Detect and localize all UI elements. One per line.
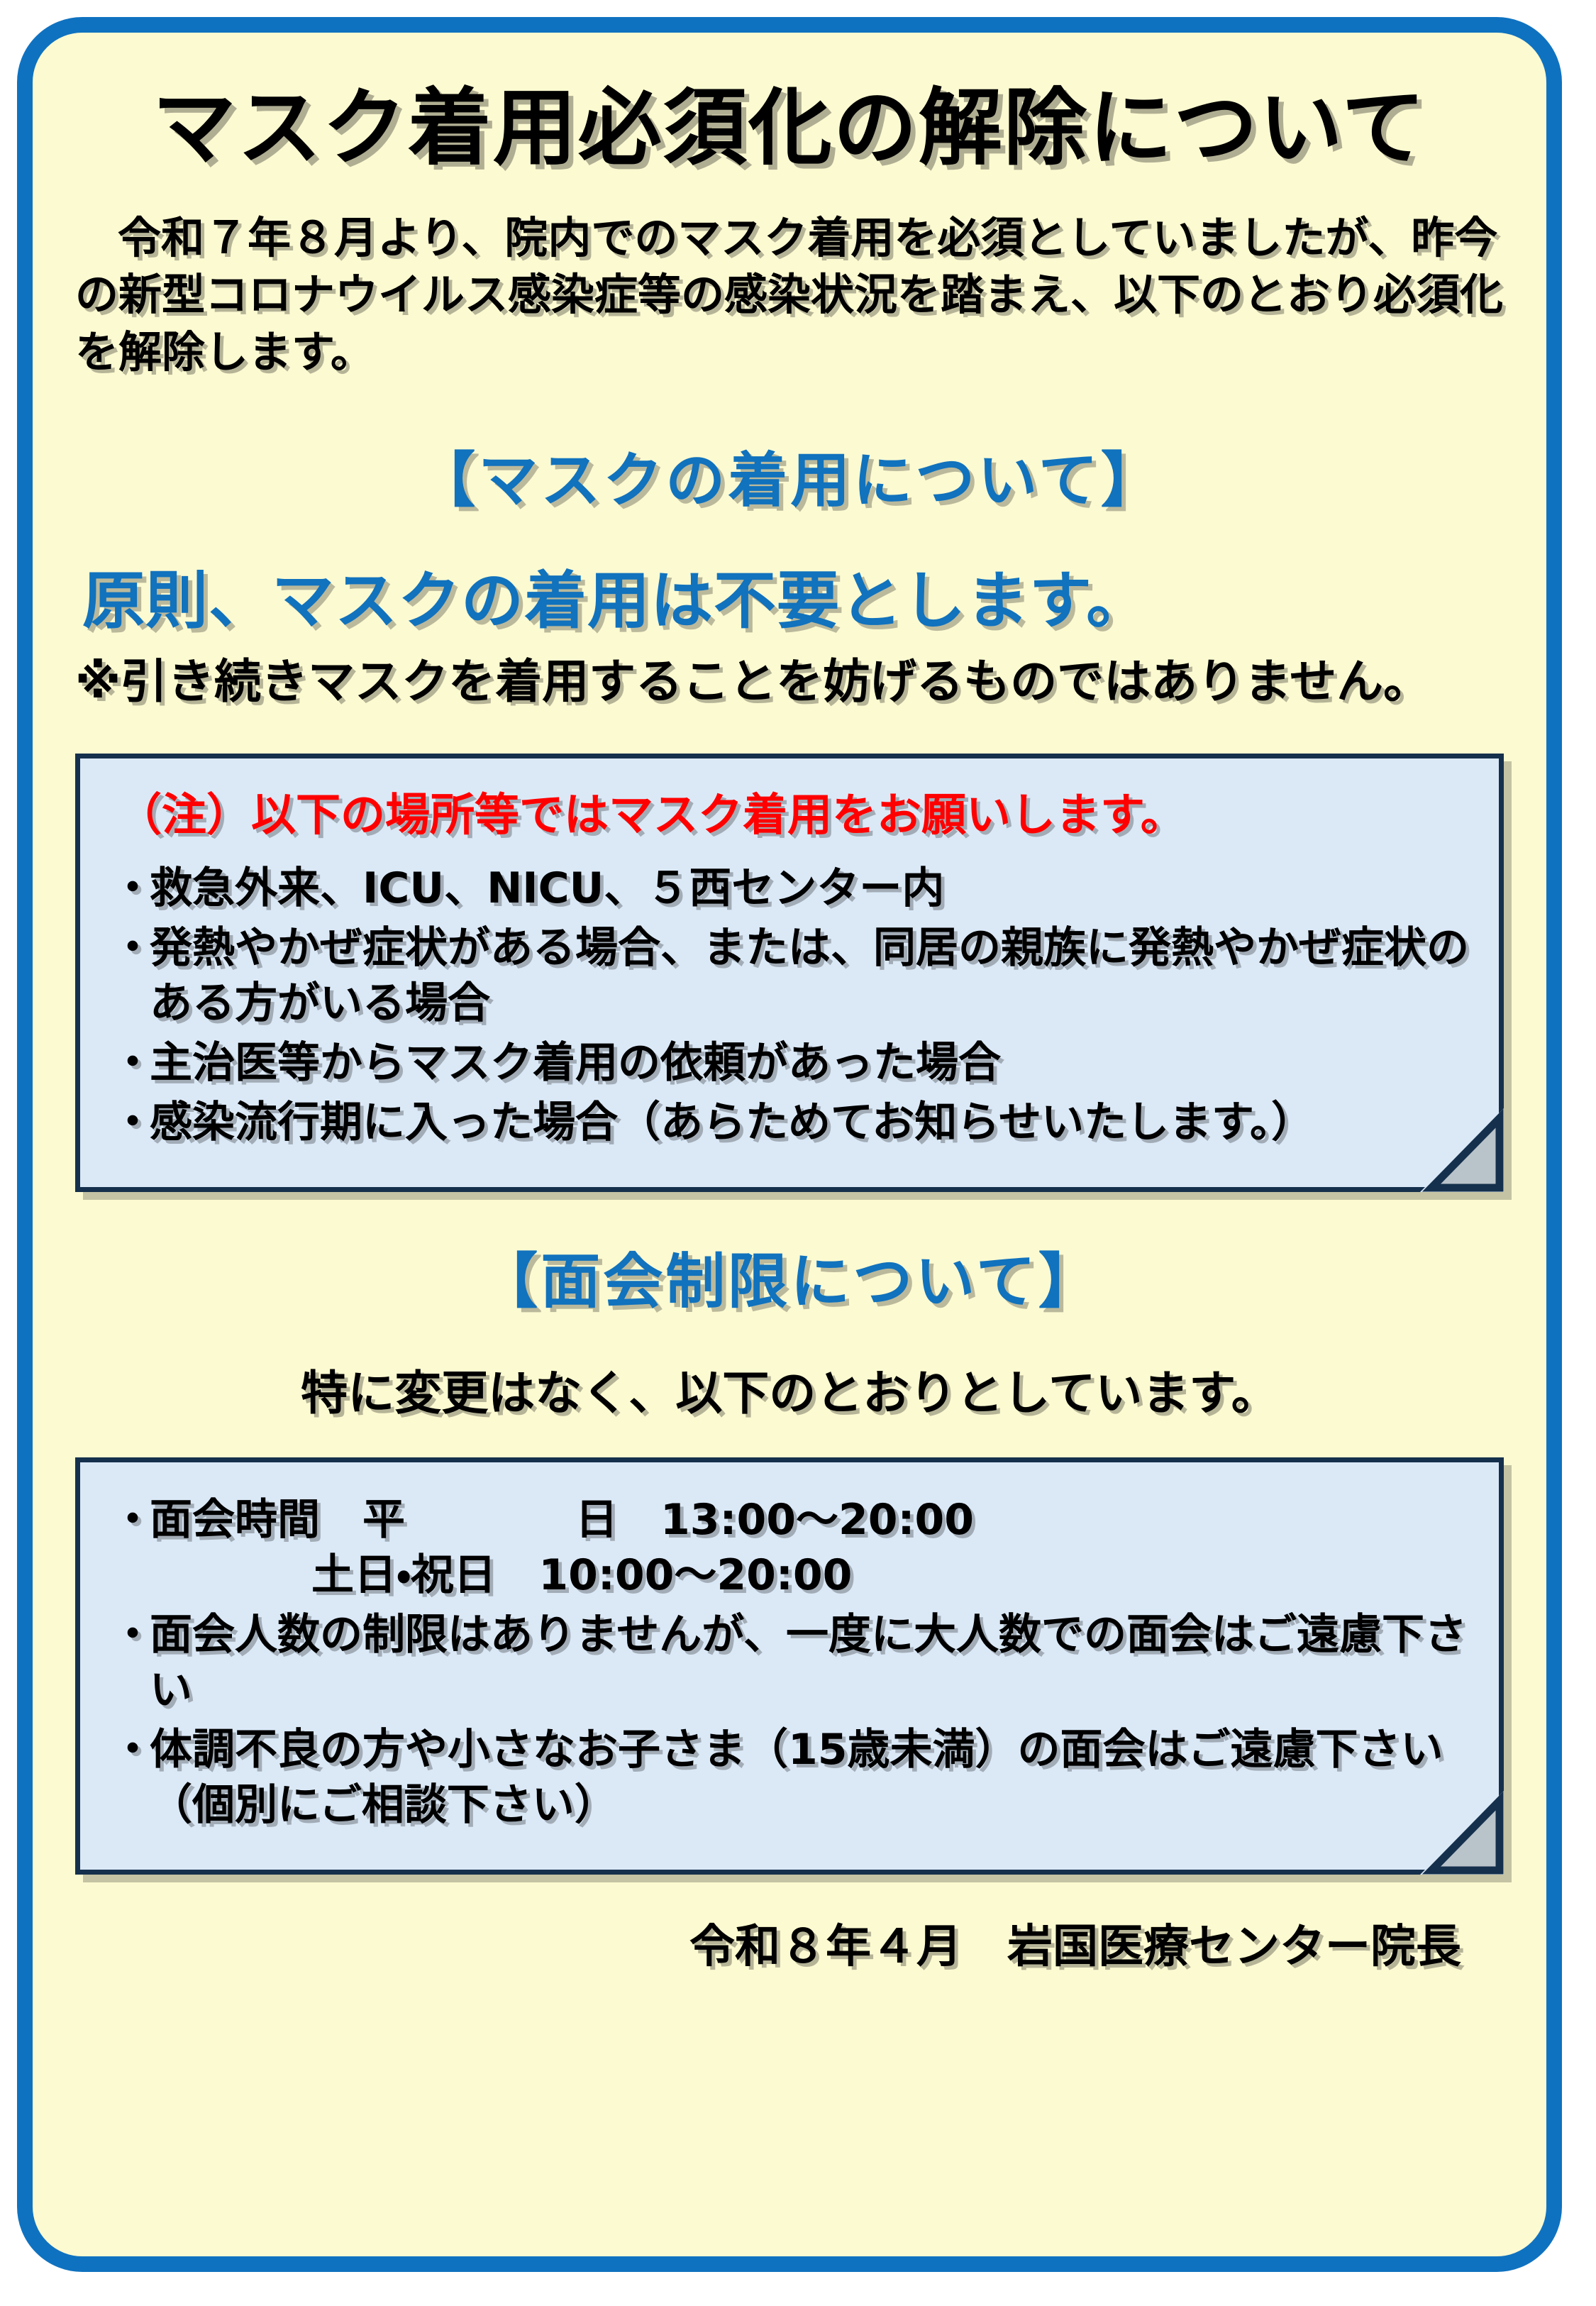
mask-policy-statement: 原則、マスクの着用は不要とします。: [82, 565, 1504, 636]
list-item: 発熱やかぜ症状がある場合、または、同居の親族に発熱やかぜ症状のある方がいる場合: [111, 920, 1470, 1031]
list-item: 主治医等からマスク着用の依頼があった場合: [111, 1035, 1470, 1091]
mask-policy-note: ※引き続きマスクを着用することを妨げるものではありません。: [75, 652, 1504, 711]
visit-hours-weekend: 土日・祝日 10:00〜20:00: [150, 1548, 1470, 1603]
page-title: マスク着用必須化の解除について: [75, 82, 1504, 175]
list-item: 面会時間 平 日 13:00〜20:00 土日・祝日 10:00〜20:00: [111, 1492, 1470, 1603]
visit-rules-list: 面会時間 平 日 13:00〜20:00 土日・祝日 10:00〜20:00 面…: [111, 1492, 1470, 1833]
list-item: 面会人数の制限はありませんが、一度に大人数での面会はご遠慮下さい: [111, 1607, 1470, 1718]
intro-paragraph: 令和７年８月より、院内でのマスク着用を必須としていましたが、昨今の新型コロナウイ…: [75, 210, 1504, 382]
visit-rules-callout: 面会時間 平 日 13:00〜20:00 土日・祝日 10:00〜20:00 面…: [75, 1457, 1504, 1875]
mask-exceptions-heading: （注）以下の場所等ではマスク着用をお願いします。: [111, 788, 1470, 842]
list-item: 感染流行期に入った場合（あらためてお知らせいたします。）: [111, 1095, 1470, 1150]
section-heading-visit: 【面会制限について】: [75, 1247, 1504, 1316]
poster-content: マスク着用必須化の解除について 令和７年８月より、院内でのマスク着用を必須として…: [33, 82, 1546, 2306]
list-item: 体調不良の方や小さなお子さま（15歳未満）の面会はご遠慮下さい（個別にご相談下さ…: [111, 1722, 1470, 1833]
poster-frame: マスク着用必須化の解除について 令和７年８月より、院内でのマスク着用を必須として…: [17, 17, 1562, 2272]
mask-exceptions-callout: （注）以下の場所等ではマスク着用をお願いします。 救急外来、ICU、NICU、５…: [75, 754, 1504, 1192]
list-item: 救急外来、ICU、NICU、５西センター内: [111, 861, 1470, 916]
footer-signature: 令和８年４月 岩国医療センター院長: [75, 1910, 1461, 1975]
visit-hours-weekday: 面会時間 平 日 13:00〜20:00: [150, 1495, 974, 1545]
mask-exceptions-list: 救急外来、ICU、NICU、５西センター内 発熱やかぜ症状がある場合、または、同…: [111, 861, 1470, 1150]
visit-lead-text: 特に変更はなく、以下のとおりとしています。: [75, 1355, 1504, 1423]
section-heading-mask: 【マスクの着用について】: [75, 446, 1504, 515]
